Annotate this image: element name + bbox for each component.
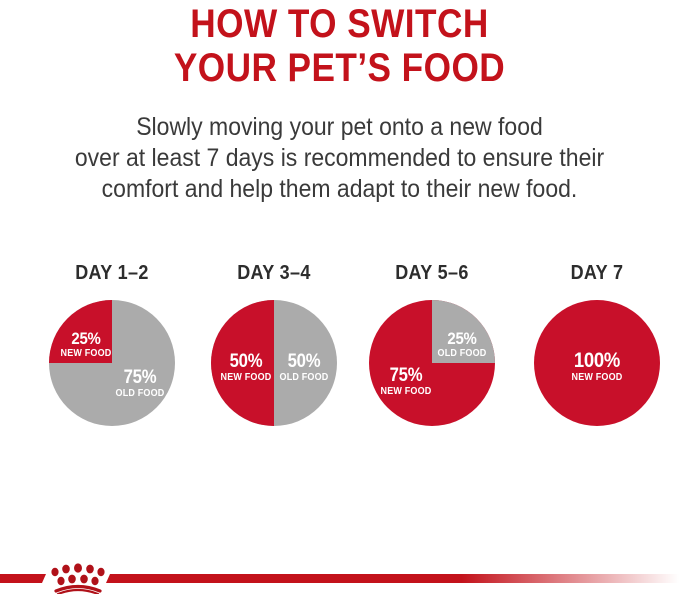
pie-group-day-3-4: DAY 3–4 50% NEW FOOD 50% OLD FOOD: [194, 262, 354, 426]
footer-bar-left: [0, 574, 46, 583]
day-label-1: DAY 1–2: [40, 262, 184, 284]
footer-bar-right: [106, 574, 679, 583]
subtitle: Slowly moving your pet onto a new food o…: [0, 112, 679, 205]
pie-svg-day-7: [534, 300, 660, 426]
pie-group-day-1-2: DAY 1–2 25% NEW FOOD 75% OLD FOOD: [32, 262, 192, 426]
pie-slice-new-food: [211, 300, 274, 426]
pie-slice-new-food: [534, 300, 660, 426]
pie-slice-old-food: [432, 300, 495, 363]
pie-chart-day-1-2: 25% NEW FOOD 75% OLD FOOD: [49, 300, 175, 426]
pie-group-day-7: DAY 7 100% NEW FOOD: [517, 262, 677, 426]
pie-svg-day-3-4: [211, 300, 337, 426]
pie-chart-day-3-4: 50% NEW FOOD 50% OLD FOOD: [211, 300, 337, 426]
pie-chart-day-7: 100% NEW FOOD: [534, 300, 660, 426]
pie-svg-day-5-6: [369, 300, 495, 426]
footer-logo-bar: [0, 560, 679, 594]
title-line-2: YOUR PET’S FOOD: [41, 46, 639, 90]
pie-slice-new-food: [49, 300, 112, 363]
day-label-3: DAY 5–6: [360, 262, 504, 284]
subtitle-line-2: over at least 7 days is recommended to e…: [27, 143, 652, 174]
pie-svg-day-1-2: [49, 300, 175, 426]
day-label-2: DAY 3–4: [202, 262, 346, 284]
pie-group-day-5-6: DAY 5–6 25% OLD FOOD 75% NEW FOOD: [352, 262, 512, 426]
day-label-4: DAY 7: [525, 262, 669, 284]
title-line-1: HOW TO SWITCH: [41, 2, 639, 46]
footer: [0, 560, 679, 594]
pie-chart-day-5-6: 25% OLD FOOD 75% NEW FOOD: [369, 300, 495, 426]
pie-chart-row: DAY 1–2 25% NEW FOOD 75% OLD FOOD DAY 3–…: [0, 262, 679, 442]
subtitle-line-3: comfort and help them adapt to their new…: [27, 174, 652, 205]
page-title: HOW TO SWITCH YOUR PET’S FOOD: [0, 2, 679, 90]
subtitle-line-1: Slowly moving your pet onto a new food: [27, 112, 652, 143]
royal-canin-crown-icon: [51, 563, 104, 594]
